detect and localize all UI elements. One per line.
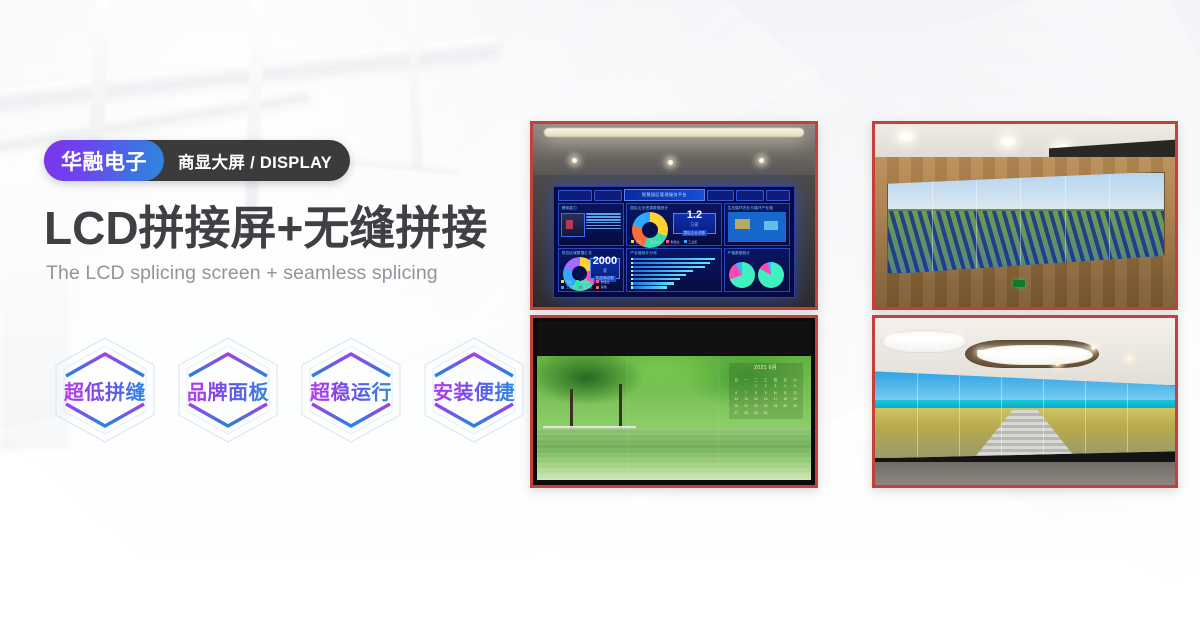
screen-top-bezel <box>537 321 811 354</box>
calendar-day: 5 <box>790 383 799 389</box>
calendar-grid: 日一二三四五六123456789101112131415161718192021… <box>732 376 800 416</box>
panel-seam <box>917 371 918 458</box>
panel-text-lines <box>586 213 622 230</box>
calendar-day: 11 <box>781 390 790 396</box>
calendar-day: 12 <box>790 390 799 396</box>
feature-hex-label: 超低拼缝 <box>64 376 146 405</box>
dashboard-title: 智慧园区管理服务平台 <box>624 189 705 200</box>
panel-title: 基础能力 <box>562 206 577 211</box>
panel-seam <box>1109 173 1110 274</box>
dashboard-nav-item[interactable] <box>707 190 735 201</box>
dashboard-screen: 智慧园区管理服务平台 基础能力 园区企业资源数据统计 <box>553 186 796 298</box>
calendar-day: 13 <box>732 396 741 402</box>
gallery-photo-lobby-videowall[interactable] <box>872 315 1178 488</box>
legend-item: 制造业 <box>666 240 680 244</box>
calendar-day: 29 <box>751 410 760 416</box>
spot-light-icon <box>668 160 673 165</box>
calendar-day: 21 <box>741 403 750 409</box>
calendar-day: 3 <box>771 383 780 389</box>
photo-content <box>875 124 1175 307</box>
flow-diagram <box>728 212 786 242</box>
dashboard-panel: 供应区域数据汇总 2000 家 供应商总数 农业 能源中心 制造业 工业区 <box>558 248 625 291</box>
spot-light-icon <box>899 132 913 141</box>
stat-value: 2000 <box>593 256 617 267</box>
spot-light-icon <box>759 158 764 163</box>
photo-content: 2021 6月 日一二三四五六1234567891011121314151617… <box>533 318 815 485</box>
dashboard-panel: 产值数据统计 <box>724 248 791 291</box>
feature-hex-label: 品牌面板 <box>187 376 269 405</box>
calendar-day: 1 <box>751 383 760 389</box>
chart-legend: 农业 能源中心 制造业 工业区 生活区 其他 <box>561 280 620 290</box>
calendar-weekday: 六 <box>790 376 799 382</box>
legend-item: 农业 <box>631 240 642 244</box>
photo-content <box>875 318 1175 485</box>
photo-content: 智慧园区管理服务平台 基础能力 园区企业资源数据统计 <box>533 124 815 307</box>
calendar-day: 20 <box>732 403 741 409</box>
chart-legend: 农业 能源中心 制造业 工业区 <box>631 240 717 244</box>
dashboard-panel: 产业链统计分布 <box>626 248 721 291</box>
calendar-day: 6 <box>732 390 741 396</box>
stat-unit: 万家 <box>690 222 698 228</box>
panel-title: 产值数据统计 <box>728 251 751 256</box>
panel-seam <box>718 356 719 480</box>
calendar-day: 14 <box>741 396 750 402</box>
calendar-overlay: 2021 6月 日一二三四五六1234567891011121314151617… <box>729 363 803 420</box>
tree-trunk <box>619 384 622 431</box>
legend-item: 生活区 <box>579 285 593 289</box>
calendar-day: 25 <box>781 403 790 409</box>
spot-light-icon <box>572 158 577 163</box>
gallery-photo-control-room[interactable]: 智慧园区管理服务平台 基础能力 园区企业资源数据统计 <box>530 121 818 310</box>
banner-stage: 华融电子 商显大屏 / DISPLAY LCD拼接屏+无缝拼接 The LCD … <box>0 0 1200 640</box>
stat-unit: 家 <box>603 268 607 274</box>
dashboard-panel: 基础能力 <box>558 203 625 246</box>
feature-hex-item[interactable]: 超低拼缝 <box>46 332 164 448</box>
calendar-day: 23 <box>761 403 770 409</box>
dashboard-nav-item[interactable] <box>558 190 593 201</box>
calendar-day: 24 <box>771 403 780 409</box>
calendar-day: 22 <box>751 403 760 409</box>
feature-hex-item[interactable]: 品牌面板 <box>169 332 287 448</box>
calendar-day: 18 <box>781 396 790 402</box>
panel-seam <box>1001 371 1002 458</box>
bar-chart <box>631 258 717 289</box>
panel-seam <box>976 173 977 274</box>
panel-title: 生态循环农业与循环产业链 <box>728 206 774 211</box>
calendar-day <box>741 383 750 389</box>
calendar-day <box>781 410 790 416</box>
calendar-title: 2021 6月 <box>729 364 803 371</box>
panel-seam <box>1020 173 1021 274</box>
panel-seam <box>627 356 628 480</box>
dashboard-title-label: 智慧园区管理服务平台 <box>642 192 687 198</box>
legend-item: 农业 <box>561 280 572 284</box>
calendar-day <box>732 383 741 389</box>
panel-seam <box>1043 371 1044 458</box>
dashboard-panel-grid: 基础能力 园区企业资源数据统计 1.2 万家 园区企业总数 农 <box>556 201 793 294</box>
exit-sign-icon <box>1013 280 1025 287</box>
cove-light <box>544 128 803 137</box>
spot-light-icon <box>1001 137 1015 146</box>
light-strip-icon <box>977 350 1088 354</box>
legend-item: 能源中心 <box>646 240 663 244</box>
gallery-photo-lake-screen[interactable]: 2021 6月 日一二三四五六1234567891011121314151617… <box>530 315 818 488</box>
pie-chart-group <box>728 262 786 289</box>
panel-title: 园区企业资源数据统计 <box>630 206 668 211</box>
dashboard-header: 智慧园区管理服务平台 <box>556 189 793 201</box>
panel-seam <box>1065 173 1066 274</box>
ceiling <box>533 124 815 179</box>
calendar-weekday: 日 <box>732 376 741 382</box>
calendar-weekday: 五 <box>781 376 790 382</box>
legend-item: 工业区 <box>561 285 575 289</box>
legend-item: 工业区 <box>684 240 698 244</box>
light-strip-icon <box>887 336 962 340</box>
panel-seam <box>1127 371 1128 458</box>
calendar-day: 2 <box>761 383 770 389</box>
dashboard-panel: 生态循环农业与循环产业链 <box>724 203 791 246</box>
feature-hex-item[interactable]: 超稳运行 <box>292 332 410 448</box>
pie-chart <box>758 262 784 288</box>
feature-hex-list: 超低拼缝 品牌面板 超稳运行 <box>46 332 533 448</box>
calendar-weekday: 四 <box>771 376 780 382</box>
curved-ceiling-panel <box>977 345 1093 365</box>
calendar-day: 10 <box>771 390 780 396</box>
panel-thumbnail <box>561 213 585 237</box>
calendar-day: 4 <box>781 383 790 389</box>
dashboard-clock <box>766 190 790 201</box>
feature-hex-label: 安装便捷 <box>433 376 515 405</box>
page-title: LCD拼接屏+无缝拼接 <box>44 204 524 253</box>
legend-item: 制造业 <box>596 280 610 284</box>
calendar-day: 17 <box>771 396 780 402</box>
feature-hex-label: 超稳运行 <box>310 376 392 405</box>
feature-hex-item[interactable]: 安装便捷 <box>415 332 533 448</box>
tree-trunk <box>570 389 573 431</box>
dashboard-panel: 园区企业资源数据统计 1.2 万家 园区企业总数 农业 能源中心 制造业 工业区 <box>626 203 721 246</box>
screen-lake-water <box>537 428 811 480</box>
spot-light-icon <box>1091 345 1096 350</box>
calendar-day: 28 <box>741 410 750 416</box>
screen-display: 2021 6月 日一二三四五六1234567891011121314151617… <box>537 356 811 480</box>
banner-copy: 华融电子 商显大屏 / DISPLAY LCD拼接屏+无缝拼接 The LCD … <box>44 140 524 285</box>
calendar-day: 30 <box>761 410 770 416</box>
panel-seam <box>932 173 933 274</box>
calendar-day: 27 <box>732 410 741 416</box>
calendar-day: 15 <box>751 396 760 402</box>
dashboard-nav-item[interactable] <box>594 190 622 201</box>
panel-title: 产业链统计分布 <box>630 251 657 256</box>
brand-name: 华融电子 <box>44 140 164 181</box>
calendar-day <box>790 410 799 416</box>
badge-category-label: 商显大屏 / DISPLAY <box>164 140 350 181</box>
legend-item: 能源中心 <box>576 280 593 284</box>
calendar-day: 9 <box>761 390 770 396</box>
video-wall-screen <box>875 371 1175 458</box>
curved-ceiling-panel <box>881 330 967 354</box>
page-subtitle: The LCD splicing screen + seamless splic… <box>46 262 524 285</box>
panel-title: 供应区域数据汇总 <box>562 251 592 256</box>
calendar-weekday: 二 <box>751 376 760 382</box>
calendar-day <box>771 410 780 416</box>
legend-item: 其他 <box>596 285 607 289</box>
calendar-day: 19 <box>790 396 799 402</box>
panel-seam <box>959 371 960 458</box>
stat-card: 1.2 万家 园区企业总数 <box>673 213 716 234</box>
stat-value: 1.2 <box>687 210 702 221</box>
panel-seam <box>1085 371 1086 458</box>
stat-card: 2000 家 供应商总数 <box>590 258 620 279</box>
calendar-day: 26 <box>790 403 799 409</box>
pie-chart <box>729 262 755 288</box>
calendar-weekday: 一 <box>741 376 750 382</box>
calendar-day: 8 <box>751 390 760 396</box>
dashboard-nav-item[interactable] <box>736 190 764 201</box>
calendar-day: 7 <box>741 390 750 396</box>
calendar-day: 16 <box>761 396 770 402</box>
calendar-weekday: 三 <box>761 376 770 382</box>
stat-note: 园区企业总数 <box>682 230 708 236</box>
brand-badge: 华融电子 商显大屏 / DISPLAY <box>44 140 350 181</box>
gallery-photo-corridor-videowall[interactable] <box>872 121 1178 310</box>
